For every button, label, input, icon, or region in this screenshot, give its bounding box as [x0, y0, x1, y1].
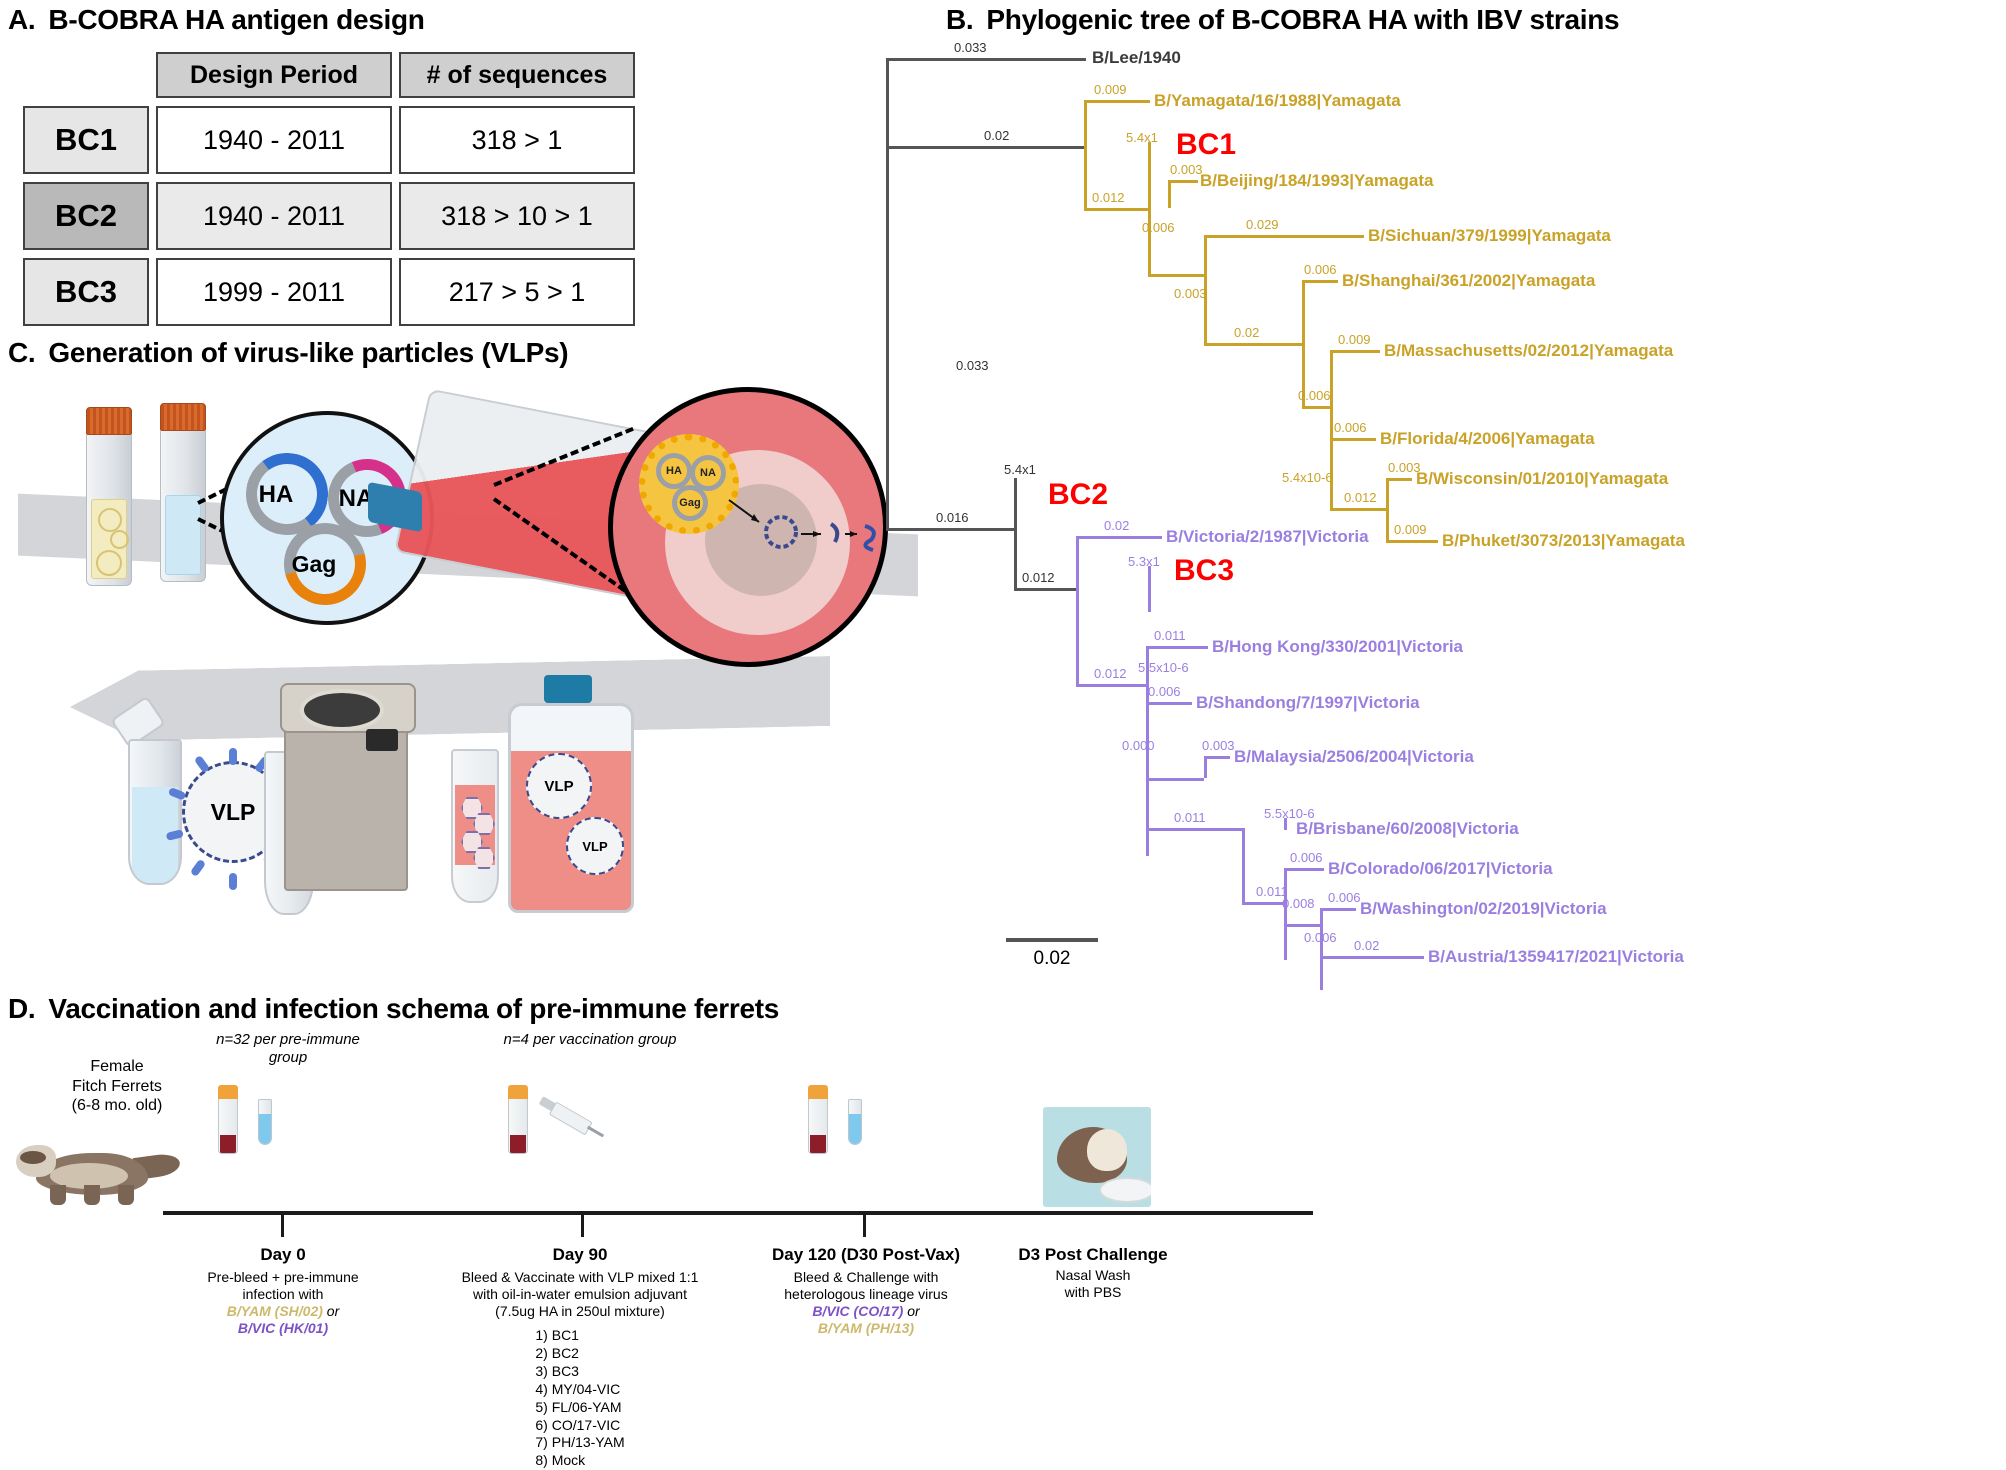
- process-arrow: [70, 656, 830, 742]
- tree-scale-bar: 0.02: [1006, 938, 1098, 970]
- ferret-illustration: [14, 1125, 174, 1213]
- tree-branch: [1386, 478, 1389, 540]
- list-item: 6) CO/17-VIC: [535, 1417, 624, 1435]
- infected-cell-diagram: HA NA Gag: [608, 387, 888, 667]
- list-item: 2) BC2: [535, 1345, 624, 1363]
- panel-d-title: D.Vaccination and infection schema of pr…: [8, 993, 1338, 1025]
- leaf-label: B/Lee/1940: [1092, 48, 1181, 68]
- branch-length-bc3: 5.3x1: [1128, 554, 1160, 569]
- leaf-label: B/Colorado/06/2017|Victoria: [1328, 859, 1553, 879]
- tube-cap: [508, 1085, 528, 1099]
- timeline-tick-day0: [281, 1211, 284, 1237]
- panel-d-letter: D.: [8, 993, 35, 1025]
- tree-branch: [1076, 536, 1079, 684]
- syringe-barrel: [549, 1101, 593, 1135]
- panel-b-letter: B.: [946, 4, 973, 36]
- tree-branch: [1146, 778, 1204, 781]
- timepoint-line: infection with: [178, 1286, 388, 1303]
- leaf-label: B/Washington/02/2019|Victoria: [1360, 899, 1607, 919]
- ferret-face-mask: [20, 1151, 46, 1164]
- tree-branch: [1146, 828, 1244, 831]
- timepoint-day120: Day 120 (D30 Post-Vax) Bleed & Challenge…: [748, 1245, 984, 1337]
- branch-length: 0.003: [1170, 162, 1203, 177]
- branch-length: 0.006: [1328, 890, 1361, 905]
- ferret-photo-face: [1087, 1129, 1127, 1171]
- leaf-label: B/Phuket/3073/2013|Yamagata: [1442, 531, 1685, 551]
- tree-branch: [1014, 588, 1078, 591]
- branch-length-root-lee: 0.033: [954, 40, 987, 55]
- timepoint-day90: Day 90 Bleed & Vaccinate with VLP mixed …: [430, 1245, 730, 1470]
- strain-yam: B/YAM (SH/02): [227, 1303, 323, 1319]
- syringe-needle: [587, 1126, 604, 1138]
- tree-branch-yam-stem: [886, 146, 1086, 149]
- branch-length-yam-n5: 0.006: [1298, 388, 1331, 403]
- culture-tube-blue-icon: [160, 403, 206, 582]
- table-row: BC1 1940 - 2011 318 > 1: [23, 106, 635, 174]
- blood-tube-icon: [508, 1085, 528, 1154]
- branch-length-yam-n1: 0.012: [1092, 190, 1125, 205]
- tree-branch: [1204, 756, 1207, 778]
- list-item: 7) PH/13-YAM: [535, 1434, 624, 1452]
- group-size-note-1: n=32 per pre-immune group: [198, 1031, 378, 1068]
- tree-branch: [1242, 828, 1245, 902]
- panel-a-title-text: B-COBRA HA antigen design: [48, 4, 424, 35]
- vlp-particle-icon: VLP: [566, 817, 624, 875]
- panel-d-title-text: Vaccination and infection schema of pre-…: [48, 993, 779, 1024]
- tree-branch: [1146, 646, 1208, 649]
- panel-c-title: C.Generation of virus-like particles (VL…: [8, 337, 968, 369]
- tree-branch: [1076, 536, 1162, 539]
- table-header-row: Design Period # of sequences: [23, 52, 635, 98]
- timepoint-title: Day 0: [178, 1245, 388, 1266]
- panel-c-vlp-generation: C.Generation of virus-like particles (VL…: [8, 337, 968, 967]
- vlp-pellet-tube-icon: [451, 749, 499, 903]
- tube-liquid: [510, 1135, 526, 1153]
- branch-length: 0.009: [1394, 522, 1427, 537]
- tree-branch-yam-node: [1084, 100, 1087, 210]
- list-item: 3) BC3: [535, 1363, 624, 1381]
- timeline-tick-day90: [581, 1211, 584, 1237]
- timepoint-line: heterologous lineage virus: [748, 1286, 984, 1303]
- tree-branch-bc3: [1148, 566, 1151, 612]
- branch-length: 0.006: [1290, 850, 1323, 865]
- group-size-note-2: n=4 per vaccination group: [500, 1031, 680, 1049]
- row-period-bc2: 1940 - 2011: [156, 182, 392, 250]
- timepoint-title: Day 120 (D30 Post-Vax): [748, 1245, 984, 1266]
- timeline-tick-day120: [863, 1211, 866, 1237]
- branch-length: 0.009: [1094, 82, 1127, 97]
- timepoint-line: with oil-in-water emulsion adjuvant: [430, 1286, 730, 1303]
- tree-branch: [1284, 924, 1322, 927]
- leaf-label: B/Wisconsin/01/2010|Yamagata: [1416, 469, 1668, 489]
- tree-branch: [1386, 540, 1438, 543]
- list-item: 8) Mock: [535, 1452, 624, 1470]
- leaf-label: B/Brisbane/60/2008|Victoria: [1296, 819, 1519, 839]
- leaf-label: B/Victoria/2/1987|Victoria: [1166, 527, 1369, 547]
- tube-liquid: [91, 499, 127, 579]
- tree-branch: [1084, 208, 1150, 211]
- plasmid-label-gag: Gag: [280, 551, 348, 578]
- centrifuge-display: [366, 729, 398, 751]
- antigen-design-table: Design Period # of sequences BC1 1940 - …: [16, 44, 642, 334]
- header-design-period: Design Period: [156, 52, 392, 98]
- header-num-sequences: # of sequences: [399, 52, 635, 98]
- timepoint-line: with PBS: [1008, 1284, 1178, 1301]
- bubble-icon: [96, 550, 122, 576]
- branch-length-bc2: 5.4x1: [1004, 462, 1036, 477]
- timepoint-line: Bleed & Vaccinate with VLP mixed 1:1: [430, 1269, 730, 1286]
- tube-body: [218, 1099, 238, 1154]
- centrifuge-rotor: [300, 689, 384, 731]
- branch-length-yam-n6: 5.4x10-6: [1282, 470, 1333, 485]
- pipette-tube-icon: [256, 1089, 272, 1143]
- bottle-cap: [544, 675, 592, 703]
- branch-length: 0.006: [1334, 420, 1367, 435]
- leaf-label: B/Beijing/184/1993|Yamagata: [1200, 171, 1433, 191]
- tube-cap: [160, 403, 206, 431]
- timepoint-line: Nasal Wash: [1008, 1267, 1178, 1284]
- tree-branch: [1330, 350, 1380, 353]
- leaf-label: B/Florida/4/2006|Yamagata: [1380, 429, 1595, 449]
- ferret-leg: [84, 1185, 100, 1205]
- tree-branch: [1146, 738, 1149, 856]
- syringe-icon: [534, 1089, 608, 1147]
- branch-length: 0.029: [1246, 217, 1279, 232]
- timepoint-title: D3 Post Challenge: [1008, 1245, 1178, 1264]
- conjunction: or: [323, 1303, 339, 1319]
- branch-length-vic-n7: 0.006: [1304, 930, 1337, 945]
- tree-branch: [1168, 180, 1171, 208]
- timepoint-line: Bleed & Challenge with: [748, 1269, 984, 1286]
- row-name-bc3: BC3: [23, 258, 149, 326]
- panel-c-letter: C.: [8, 337, 35, 369]
- row-sequences-bc1: 318 > 1: [399, 106, 635, 174]
- tree-branch: [1284, 868, 1287, 960]
- tree-branch: [1242, 902, 1286, 905]
- branch-length: 0.009: [1338, 332, 1371, 347]
- tree-branch: [1284, 868, 1324, 871]
- ferret-leg: [118, 1185, 134, 1205]
- vlp-label: VLP: [528, 755, 590, 817]
- tree-branch: [1168, 180, 1198, 183]
- leaf-label: B/Massachusetts/02/2012|Yamagata: [1384, 341, 1673, 361]
- panel-c-title-text: Generation of virus-like particles (VLPs…: [48, 337, 568, 368]
- tube-liquid: [165, 495, 201, 575]
- tube-body: [808, 1099, 828, 1154]
- branch-length: 0.006: [1148, 684, 1181, 699]
- branch-length: 0.003: [1202, 738, 1235, 753]
- panel-a-letter: A.: [8, 4, 35, 36]
- branch-length: 0.006: [1304, 262, 1337, 277]
- panel-a-title: A.B-COBRA HA antigen design: [8, 4, 728, 36]
- row-sequences-bc3: 217 > 5 > 1: [399, 258, 635, 326]
- timepoint-line: Pre-bleed + pre-immune: [178, 1269, 388, 1286]
- timepoint-line: (7.5ug HA in 250ul mixture): [430, 1303, 730, 1320]
- tube-cap: [808, 1085, 828, 1099]
- cobra-label-bc1: BC1: [1176, 128, 1236, 162]
- timepoint-day0: Day 0 Pre-bleed + pre-immune infection w…: [178, 1245, 388, 1337]
- branch-length-vic-n0: 0.012: [1022, 570, 1055, 585]
- branch-length-vic-n6: 0.008: [1282, 896, 1315, 911]
- scale-bar-label: 0.02: [1006, 948, 1098, 970]
- panel-c-artwork: HA NA Gag HA NA Gag: [8, 379, 968, 969]
- strain-yam: B/YAM (PH/13): [818, 1320, 914, 1336]
- leaf-label: B/Hong Kong/330/2001|Victoria: [1212, 637, 1463, 657]
- tree-branch: [1330, 508, 1388, 511]
- table-row: BC3 1999 - 2011 217 > 5 > 1: [23, 258, 635, 326]
- vaccine-group-list: 1) BC1 2) BC2 3) BC3 4) MY/04-VIC 5) FL/…: [535, 1327, 624, 1470]
- tree-branch: [1076, 684, 1148, 687]
- pipette-liquid: [849, 1114, 861, 1144]
- blood-tube-icon: [808, 1085, 828, 1154]
- tree-branch: [1146, 702, 1192, 705]
- transcription-arrows: [613, 392, 883, 662]
- animal-description: Female Fitch Ferrets (6-8 mo. old): [42, 1057, 192, 1116]
- panel-b-title: B.Phylogenic tree of B-COBRA HA with IBV…: [946, 4, 1619, 36]
- tree-branch: [1386, 478, 1412, 481]
- media-bottle-icon: VLP VLP: [508, 697, 628, 907]
- centrifuge-icon: [284, 697, 408, 891]
- tree-branch: [1302, 280, 1338, 283]
- branch-length-yam-n3: 0.003: [1174, 286, 1207, 301]
- strain-vic: B/VIC (CO/17): [812, 1303, 903, 1319]
- culture-tube-yellow-icon: [86, 407, 132, 586]
- tree-branch-root-vertical: [886, 58, 889, 528]
- branch-length-vic-n2: 5.5x10-6: [1138, 660, 1189, 675]
- row-name-bc2: BC2: [23, 182, 149, 250]
- scale-bar-line: [1006, 938, 1098, 942]
- animal-line-2: Fitch Ferrets: [42, 1077, 192, 1097]
- tree-branch: [1148, 208, 1151, 274]
- row-period-bc1: 1940 - 2011: [156, 106, 392, 174]
- pipette-body: [258, 1099, 272, 1145]
- tube-cap: [218, 1085, 238, 1099]
- branch-length-yam-n2: 0.006: [1142, 220, 1175, 235]
- tube-body: [86, 435, 132, 586]
- panel-b-title-text: Phylogenic tree of B-COBRA HA with IBV s…: [986, 4, 1619, 35]
- tube-liquid: [220, 1135, 236, 1153]
- tree-branch: [1320, 956, 1424, 959]
- branch-length-yam-stem: 0.02: [984, 128, 1009, 143]
- cobra-label-bc2: BC2: [1048, 478, 1108, 512]
- study-timeline: [163, 1211, 1313, 1215]
- branch-length: 0.011: [1154, 628, 1186, 643]
- tree-branch-bc1: [1148, 142, 1151, 210]
- tube-cap: [86, 407, 132, 435]
- branch-length-root-deep: 0.033: [956, 358, 989, 373]
- animal-line-3: (6-8 mo. old): [42, 1096, 192, 1116]
- vlp-particle-icon: VLP: [526, 753, 592, 819]
- leaf-label: B/Malaysia/2506/2004|Victoria: [1234, 747, 1474, 767]
- branch-length-vic-stem: 0.016: [936, 510, 969, 525]
- pipette-liquid: [259, 1114, 271, 1144]
- leaf-label: B/Yamagata/16/1988|Yamagata: [1154, 91, 1401, 111]
- microcentrifuge-tube-icon: [128, 739, 182, 885]
- branch-length: 0.02: [1354, 938, 1379, 953]
- table-row: BC2 1940 - 2011 318 > 10 > 1: [23, 182, 635, 250]
- cobra-label-bc3: BC3: [1174, 554, 1234, 588]
- branch-length-vic-n3: 0.000: [1122, 738, 1155, 753]
- branch-length-vic-n1: 0.012: [1094, 666, 1127, 681]
- list-item: 5) FL/06-YAM: [535, 1399, 624, 1417]
- list-item: 4) MY/04-VIC: [535, 1381, 624, 1399]
- branch-length-bc1: 5.4x1: [1126, 130, 1158, 145]
- tree-branch: [1302, 406, 1332, 409]
- branch-length-vic-n4: 0.011: [1174, 810, 1206, 825]
- tree-branch: [1320, 908, 1356, 911]
- header-blank: [23, 52, 149, 98]
- timepoint-title: Day 90: [430, 1245, 730, 1266]
- leaf-label: B/Shandong/7/1997|Victoria: [1196, 693, 1420, 713]
- tree-branch: [1204, 343, 1304, 346]
- leaf-label: B/Austria/1359417/2021|Victoria: [1428, 947, 1684, 967]
- tree-branch: [1330, 438, 1333, 508]
- branch-length-yam-n7: 0.012: [1344, 490, 1377, 505]
- tree-branch: [1204, 756, 1230, 759]
- tree-branch: [1330, 438, 1376, 441]
- tree-branch-lee: [886, 58, 1086, 61]
- bubble-icon: [110, 530, 129, 549]
- vlp-label: VLP: [568, 819, 622, 873]
- plasmid-label-ha: HA: [244, 481, 308, 509]
- tree-branch: [1084, 100, 1150, 103]
- tree-branch-vic-stem: [886, 528, 1016, 531]
- tree-branch: [1320, 908, 1323, 990]
- row-period-bc3: 1999 - 2011: [156, 258, 392, 326]
- tube-body: [128, 739, 182, 885]
- leaf-label: B/Sichuan/379/1999|Yamagata: [1368, 226, 1611, 246]
- row-sequences-bc2: 318 > 10 > 1: [399, 182, 635, 250]
- list-item: 1) BC1: [535, 1327, 624, 1345]
- blood-tube-icon: [218, 1085, 238, 1154]
- tube-body: [160, 431, 206, 582]
- branch-length: 0.02: [1104, 518, 1129, 533]
- tree-branch-sichuan: [1204, 235, 1364, 238]
- branch-length-yam-n4: 0.02: [1234, 325, 1259, 340]
- ferret-leg: [50, 1185, 66, 1205]
- bubble-icon: [98, 508, 122, 532]
- panel-a-antigen-design: A.B-COBRA HA antigen design Design Perio…: [8, 4, 728, 334]
- tree-branch: [1148, 274, 1206, 277]
- petri-dish-icon: [1099, 1177, 1151, 1203]
- tree-branch: [1014, 478, 1017, 588]
- strain-vic: B/VIC (HK/01): [238, 1320, 328, 1336]
- tube-liquid: [810, 1135, 826, 1153]
- tube-body: [508, 1099, 528, 1154]
- leaf-label: B/Shanghai/361/2002|Yamagata: [1342, 271, 1595, 291]
- pipette-body: [848, 1099, 862, 1145]
- panel-d-artwork: Female Fitch Ferrets (6-8 mo. old) n=32 …: [8, 1029, 1338, 1449]
- ferret-nasal-wash-photo: [1043, 1107, 1151, 1207]
- animal-line-1: Female: [42, 1057, 192, 1077]
- row-name-bc1: BC1: [23, 106, 149, 174]
- panel-d-vaccination-schema: D.Vaccination and infection schema of pr…: [8, 993, 1338, 1453]
- conjunction: or: [903, 1303, 919, 1319]
- timepoint-d3-post-challenge: D3 Post Challenge Nasal Wash with PBS: [1008, 1245, 1178, 1302]
- pipette-tube-icon: [846, 1089, 862, 1143]
